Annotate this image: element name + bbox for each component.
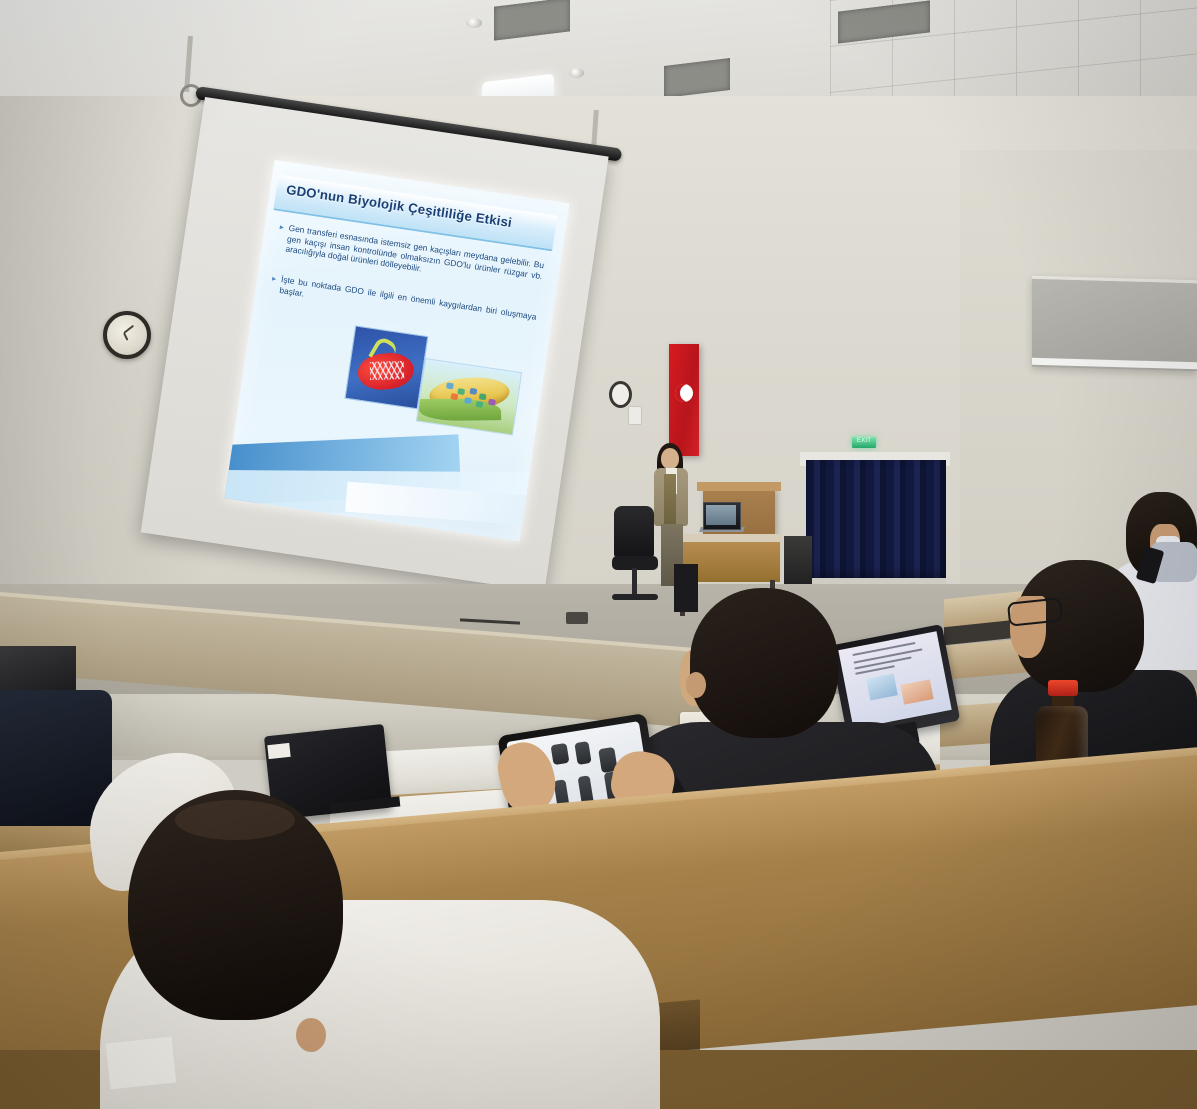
bullet-marker-icon: ▸ <box>279 222 285 233</box>
turkish-flag: ★ <box>669 344 699 456</box>
corn-kernel <box>476 401 484 408</box>
navy-curtain <box>806 460 946 585</box>
presentation-slide: GDO'nun Biyolojik Çeşitliliğe Etkisi ▸ G… <box>225 160 570 542</box>
lectern-top <box>697 482 781 491</box>
stage-speaker <box>566 612 588 624</box>
lecture-hall-photo: GDO'nun Biyolojik Çeşitliliğe Etkisi ▸ G… <box>0 0 1197 1109</box>
corn-kernel <box>488 399 496 406</box>
exit-sign-label: EXIT <box>853 438 875 444</box>
small-wall-clock <box>609 381 632 408</box>
bullet-marker-icon: ▸ <box>271 274 277 285</box>
student-center-head <box>690 588 838 738</box>
window-blind <box>1032 276 1197 372</box>
paper-sheet <box>106 1037 176 1090</box>
ceiling-spotlight <box>569 68 584 78</box>
wall-outlet <box>628 406 642 425</box>
star-icon: ★ <box>686 390 693 397</box>
corn-kernel <box>464 397 472 404</box>
pepper-dna-image <box>344 325 428 409</box>
student-center-ear <box>686 672 706 698</box>
corn-kernel <box>469 388 477 395</box>
presenter-scarf <box>664 474 676 526</box>
office-chair-back <box>614 506 654 558</box>
presenter-head <box>661 448 679 469</box>
wall-clock <box>103 311 151 359</box>
office-chair-base <box>612 594 658 600</box>
tablet-screen-content <box>551 743 570 765</box>
corn-image <box>416 358 522 436</box>
corn-kernel <box>446 382 454 389</box>
hair-highlight <box>175 800 295 840</box>
ceiling-spotlight <box>466 18 482 28</box>
tablet-case-notch <box>267 743 290 759</box>
corn-kernel <box>457 388 465 395</box>
office-chair-post <box>632 568 637 596</box>
dna-strand-overlay <box>370 361 404 380</box>
corn-kernel <box>479 393 487 400</box>
bottle-cap <box>1048 680 1078 696</box>
corn-kernel <box>451 393 459 400</box>
foreground-person-ear <box>296 1018 326 1052</box>
amplifier-box <box>674 564 698 612</box>
laptop-screen-glow <box>706 505 736 525</box>
projector-screen: GDO'nun Biyolojik Çeşitliliğe Etkisi ▸ G… <box>141 97 609 592</box>
